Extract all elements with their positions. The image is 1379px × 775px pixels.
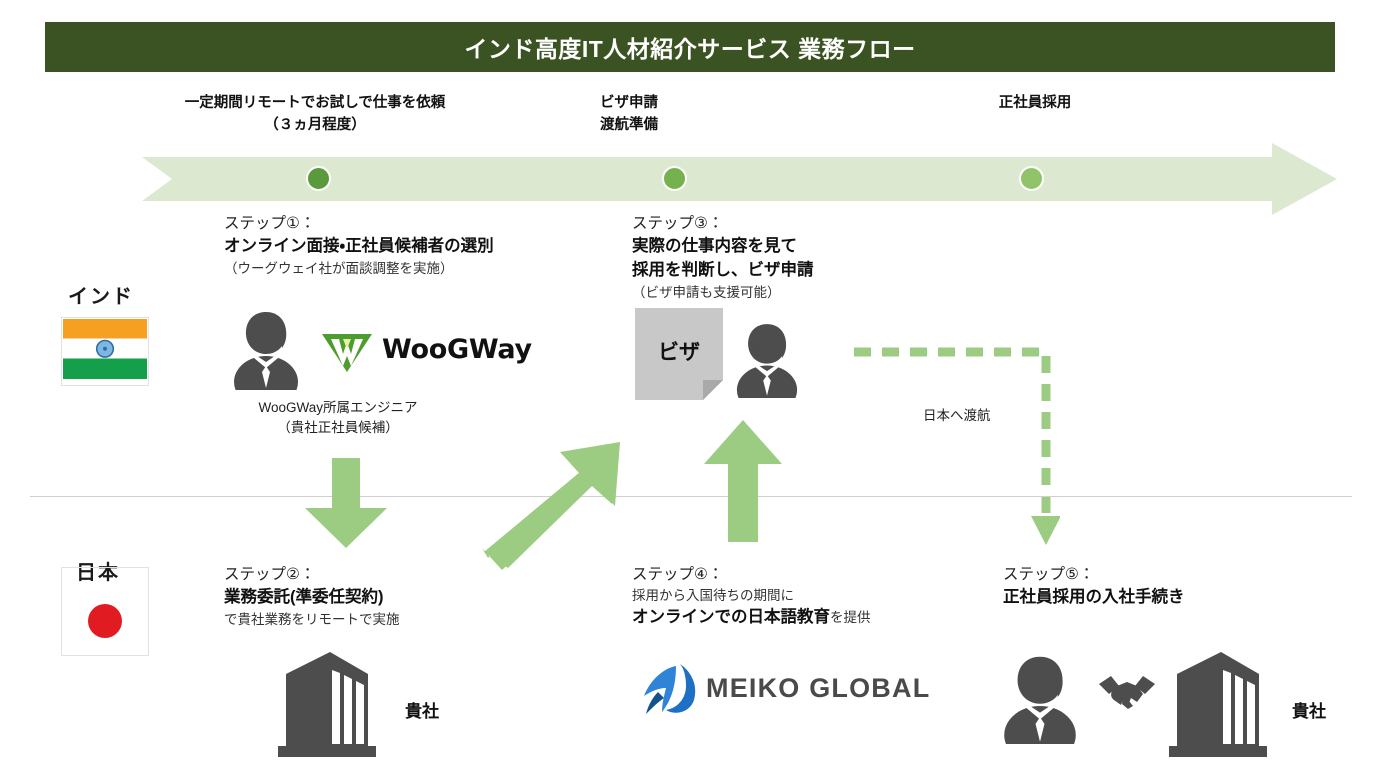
step-5-heading: ステップ⑤： [1003, 563, 1185, 586]
step-4-title-row: オンラインでの日本語教育を提供 [632, 606, 871, 630]
client-company-building-left-icon [272, 648, 380, 763]
handshake-icon [1097, 672, 1157, 721]
dot-milestone-2 [662, 166, 687, 191]
visa-label: ビザ [635, 336, 723, 366]
milestone-label-1-line2: （３ヵ月程度） [145, 114, 485, 136]
woogway-triangle-mark [320, 330, 374, 374]
flow-arrow-up [702, 420, 784, 547]
milestone-label-2-line2: 渡航準備 [600, 114, 750, 136]
step-1-title: オンライン面接・正社員候補者の選別 [224, 235, 494, 259]
meiko-swoosh-mark [640, 662, 702, 718]
step-3-heading: ステップ③： [632, 212, 814, 235]
step-1-note: （ウーグウェイ社が面談調整を実施） [224, 259, 494, 279]
page-title: インド高度IT人材紹介サービス 業務フロー [464, 30, 915, 64]
step-2-note: で貴社業務をリモートで実施 [224, 610, 400, 630]
step-2-title: 業務委託(準委任契約) [224, 586, 400, 610]
dot-milestone-1 [306, 166, 331, 191]
page-title-bar: インド高度IT人材紹介サービス 業務フロー [45, 22, 1335, 72]
milestone-label-2: ビザ申請 渡航準備 [600, 92, 750, 137]
visa-person-icon [735, 318, 799, 403]
client-company-label-right: 貴社 [1292, 697, 1326, 722]
milestone-label-3: 正社員採用 [955, 92, 1115, 114]
engineer-caption: WooGWay所属エンジニア （貴社正社員候補） [228, 398, 448, 439]
step-3-note: （ビザ申請も支援可能） [632, 283, 814, 303]
india-flag [62, 318, 148, 385]
client-company-label-left: 貴社 [405, 697, 439, 722]
flow-arrow-down [303, 458, 389, 553]
step-2-heading: ステップ②： [224, 563, 400, 586]
engineer-person-icon [232, 306, 300, 395]
flow-arrow-diagonal [482, 440, 622, 575]
visa-document-icon: ビザ [635, 308, 723, 400]
step-4-title-tail: を提供 [830, 610, 871, 625]
milestone-label-1: 一定期間リモートでお試しで仕事を依頼 （３ヵ月程度） [145, 92, 485, 137]
step-1-block: ステップ①： オンライン面接・正社員候補者の選別 （ウーグウェイ社が面談調整を実… [224, 212, 494, 279]
meiko-global-logo [640, 662, 702, 723]
milestone-label-1-line1: 一定期間リモートでお試しで仕事を依頼 [145, 92, 485, 114]
step-4-heading: ステップ④： [632, 563, 871, 586]
woogway-wordmark: WooGWay [382, 334, 532, 365]
step-2-block: ステップ②： 業務委託(準委任契約) で貴社業務をリモートで実施 [224, 563, 400, 630]
step-5-block: ステップ⑤： 正社員採用の入社手続き [1003, 563, 1185, 610]
step-3-title-line1: 実際の仕事内容を見て [632, 235, 814, 259]
dot-milestone-3 [1019, 166, 1044, 191]
step-1-heading: ステップ①： [224, 212, 494, 235]
travel-dashed-arrow [850, 340, 1060, 555]
travel-arrow-label: 日本へ渡航 [923, 404, 991, 424]
engineer-caption-line2: （貴社正社員候補） [228, 418, 448, 438]
step-4-note: 採用から入国待ちの期間に [632, 586, 871, 606]
milestone-label-3-line1: 正社員採用 [955, 92, 1115, 114]
step-3-title-line2: 採用を判断し、ビザ申請 [632, 259, 814, 283]
meiko-wordmark: MEIKO GLOBAL [706, 673, 930, 704]
step-5-title: 正社員採用の入社手続き [1003, 586, 1185, 610]
milestone-label-2-line1: ビザ申請 [600, 92, 750, 114]
region-label-india: インド [68, 280, 134, 309]
region-divider [30, 496, 1352, 497]
client-company-building-right-icon [1163, 648, 1271, 763]
japan-flag [62, 568, 148, 655]
step-4-title: オンラインでの日本語教育 [632, 608, 830, 626]
step-4-block: ステップ④： 採用から入国待ちの期間に オンラインでの日本語教育を提供 [632, 563, 871, 630]
engineer-caption-line1: WooGWay所属エンジニア [228, 398, 448, 418]
step-3-block: ステップ③： 実際の仕事内容を見て 採用を判断し、ビザ申請 （ビザ申請も支援可能… [632, 212, 814, 303]
hired-person-icon [1002, 650, 1078, 749]
woogway-logo [320, 330, 374, 379]
